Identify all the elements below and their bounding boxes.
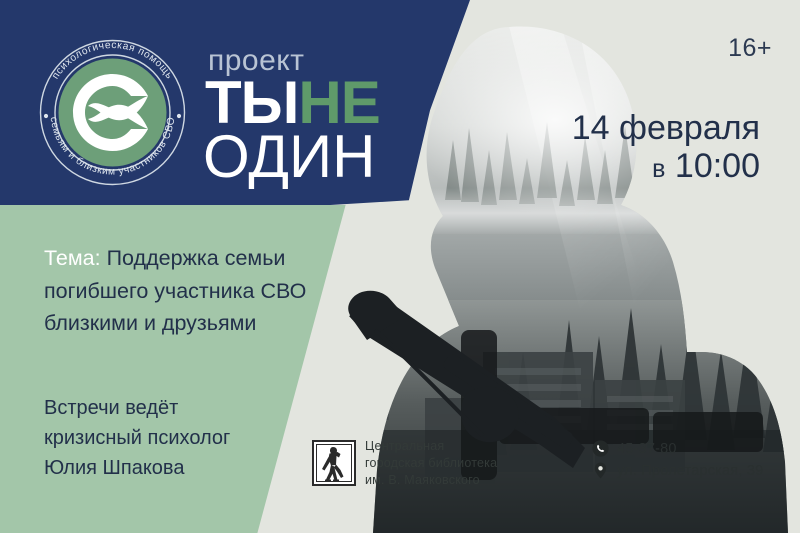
theme-line2: погибшего участника СВО: [44, 279, 306, 303]
event-host: Встречи ведёт кризисный психолог Юлия Шп…: [44, 393, 314, 483]
library-line2: городская библиотека: [365, 456, 497, 470]
event-date: 14 февраля: [572, 110, 760, 146]
library-name: Центральная городская библиотека им. В. …: [365, 438, 497, 489]
age-rating-badge: 16+: [728, 34, 772, 63]
contact-address-row[interactable]: ул. Пролетарская, 39: [592, 462, 763, 479]
library-line3: им. В. Маяковского: [365, 473, 480, 487]
project-wordmark: проект ТЫНЕ ОДИН: [205, 46, 380, 187]
wordmark-odin: ОДИН: [203, 127, 380, 187]
library-line1: Центральная: [365, 439, 444, 453]
phone-icon: [592, 440, 609, 457]
phone-icon-glyph: [592, 440, 609, 457]
theme-line3: близкими и друзьями: [44, 311, 256, 335]
phone-number: 45-37-80: [617, 441, 677, 457]
event-time-prefix: в: [652, 155, 665, 183]
contact-phone-row[interactable]: 45-37-80: [592, 440, 763, 457]
project-logo: психологическая помощь семьям и близким …: [30, 30, 195, 195]
event-poster: психологическая помощь семьям и близким …: [0, 0, 800, 533]
theme-label: Тема:: [44, 246, 101, 270]
address: ул. Пролетарская, 39: [617, 463, 763, 479]
location-pin-icon: [592, 462, 609, 479]
contact-info: 45-37-80 ул. Пролетарская, 39: [592, 440, 763, 484]
library-credit: Центральная городская библиотека им. В. …: [312, 438, 497, 489]
logo-dot-right: [177, 114, 181, 118]
location-pin-icon-glyph: [592, 462, 609, 479]
host-line3: Юлия Шпакова: [44, 457, 184, 479]
logo-dot-left: [44, 114, 48, 118]
theme-line1: Поддержка семьи: [101, 246, 286, 270]
mayakovsky-figure-icon: [312, 438, 356, 488]
psychological-help-emblem: психологическая помощь семьям и близким …: [30, 30, 195, 195]
event-datetime: 14 февраля в 10:00: [572, 110, 760, 185]
event-time-value: 10:00: [675, 147, 760, 185]
host-line2: кризисный психолог: [44, 427, 230, 449]
library-logo-icon: [312, 438, 356, 488]
host-line1: Встречи ведёт: [44, 397, 178, 419]
event-theme: Тема: Поддержка семьи погибшего участник…: [44, 242, 344, 340]
event-time: в 10:00: [572, 148, 760, 184]
